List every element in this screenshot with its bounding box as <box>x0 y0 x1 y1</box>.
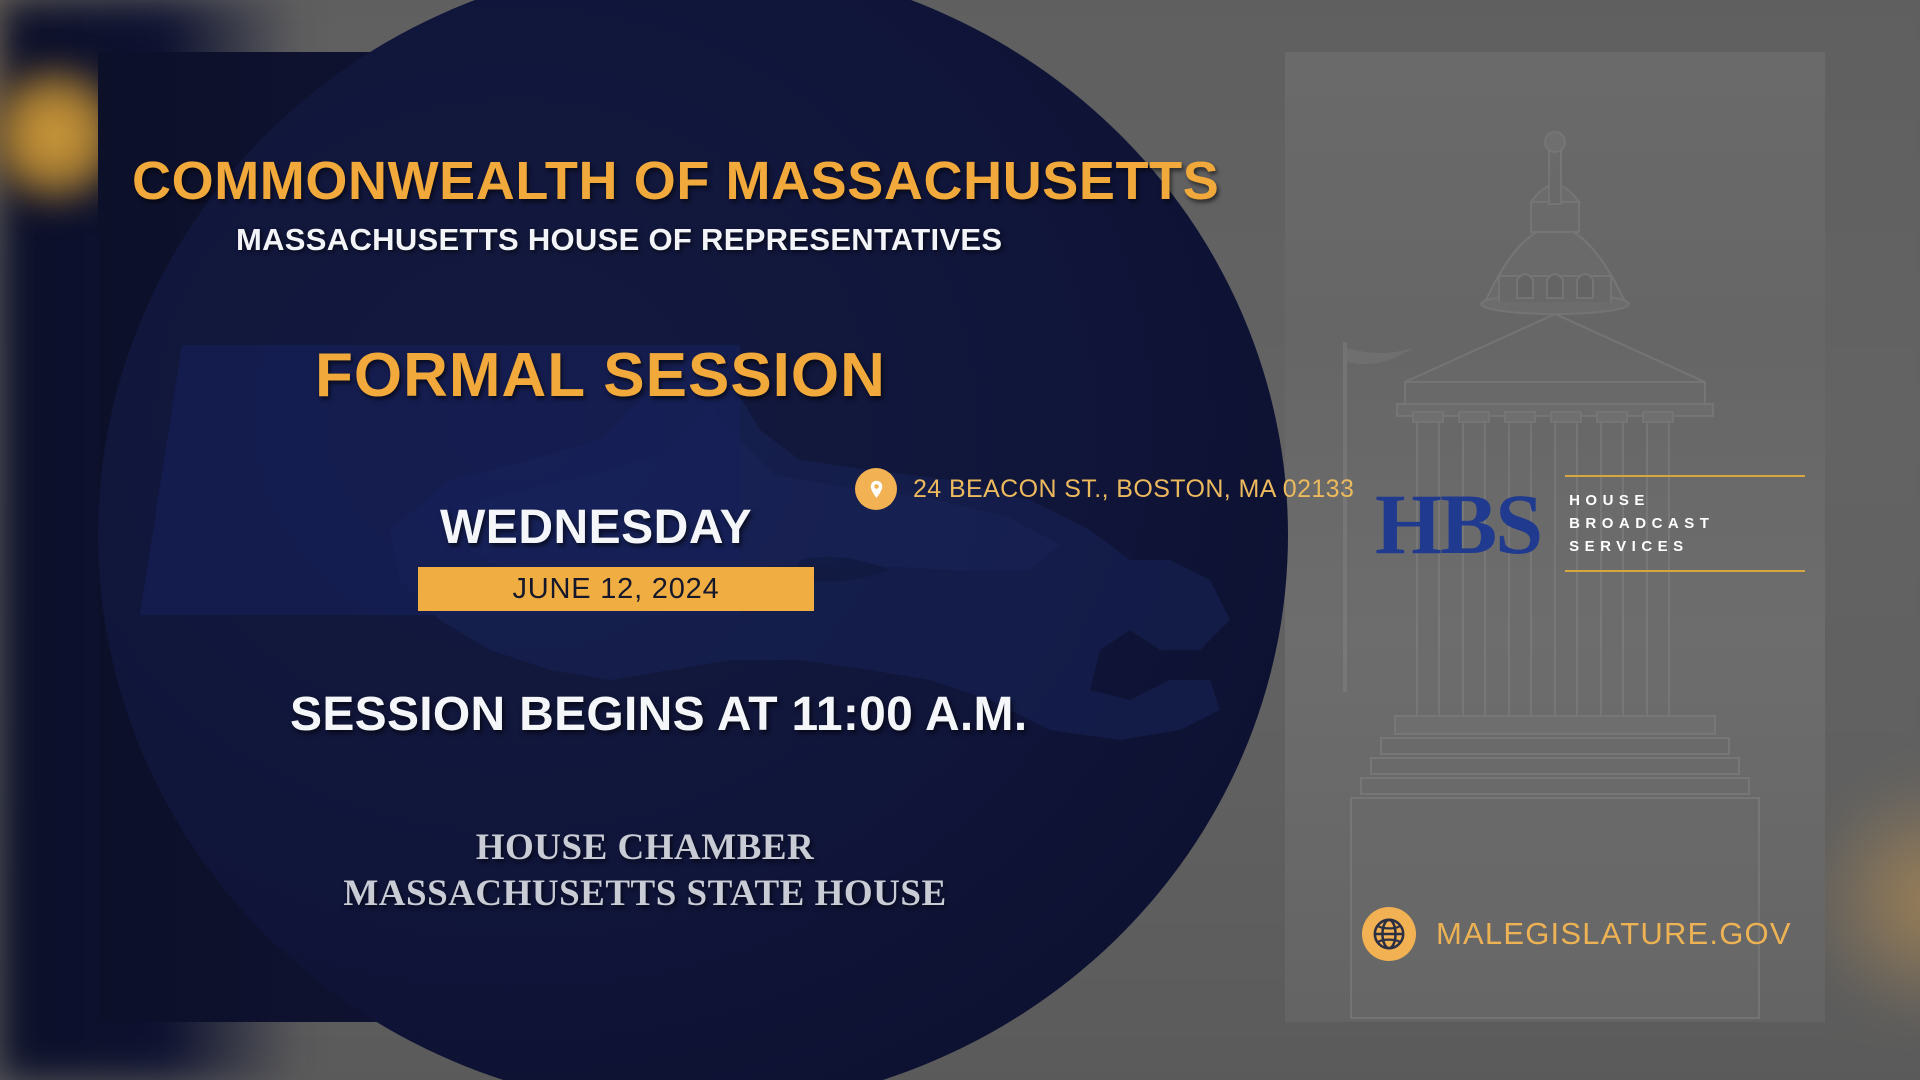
hbs-wordmark: HOUSE BROADCAST SERVICES <box>1565 475 1805 572</box>
address-text: 24 BEACON ST., BOSTON, MA 02133 <box>913 475 1354 504</box>
venue-block: HOUSE CHAMBER MASSACHUSETTS STATE HOUSE <box>0 825 1290 917</box>
venue-line-1: HOUSE CHAMBER <box>0 825 1290 871</box>
chamber-subtitle: MASSACHUSETTS HOUSE OF REPRESENTATIVES <box>236 222 1002 258</box>
page-title: COMMONWEALTH OF MASSACHUSETTS <box>132 150 1219 212</box>
date-badge: JUNE 12, 2024 <box>418 567 814 611</box>
hbs-word-house: HOUSE <box>1569 489 1805 512</box>
map-pin-icon <box>855 468 897 510</box>
website-block: MALEGISLATURE.GOV <box>1362 907 1792 961</box>
website-text: MALEGISLATURE.GOV <box>1436 916 1792 952</box>
venue-line-2: MASSACHUSETTS STATE HOUSE <box>0 871 1290 917</box>
address-block: 24 BEACON ST., BOSTON, MA 02133 <box>855 468 1354 510</box>
hbs-word-broadcast: BROADCAST <box>1569 512 1805 535</box>
hbs-word-services: SERVICES <box>1569 535 1805 558</box>
globe-icon <box>1362 907 1416 961</box>
date-text: JUNE 12, 2024 <box>512 573 719 606</box>
hbs-wordmark-lines: HOUSE BROADCAST SERVICES <box>1565 477 1805 570</box>
hbs-logo: HBS HOUSE BROADCAST SERVICES <box>1375 475 1805 572</box>
hbs-rule-bottom <box>1565 570 1805 572</box>
session-type-heading: FORMAL SESSION <box>315 340 886 411</box>
hbs-monogram: HBS <box>1375 481 1541 567</box>
weekday-label: WEDNESDAY <box>440 500 752 555</box>
broadcast-slate: COMMONWEALTH OF MASSACHUSETTS MASSACHUSE… <box>0 0 1920 1080</box>
start-time-label: SESSION BEGINS AT 11:00 A.M. <box>290 687 1027 742</box>
